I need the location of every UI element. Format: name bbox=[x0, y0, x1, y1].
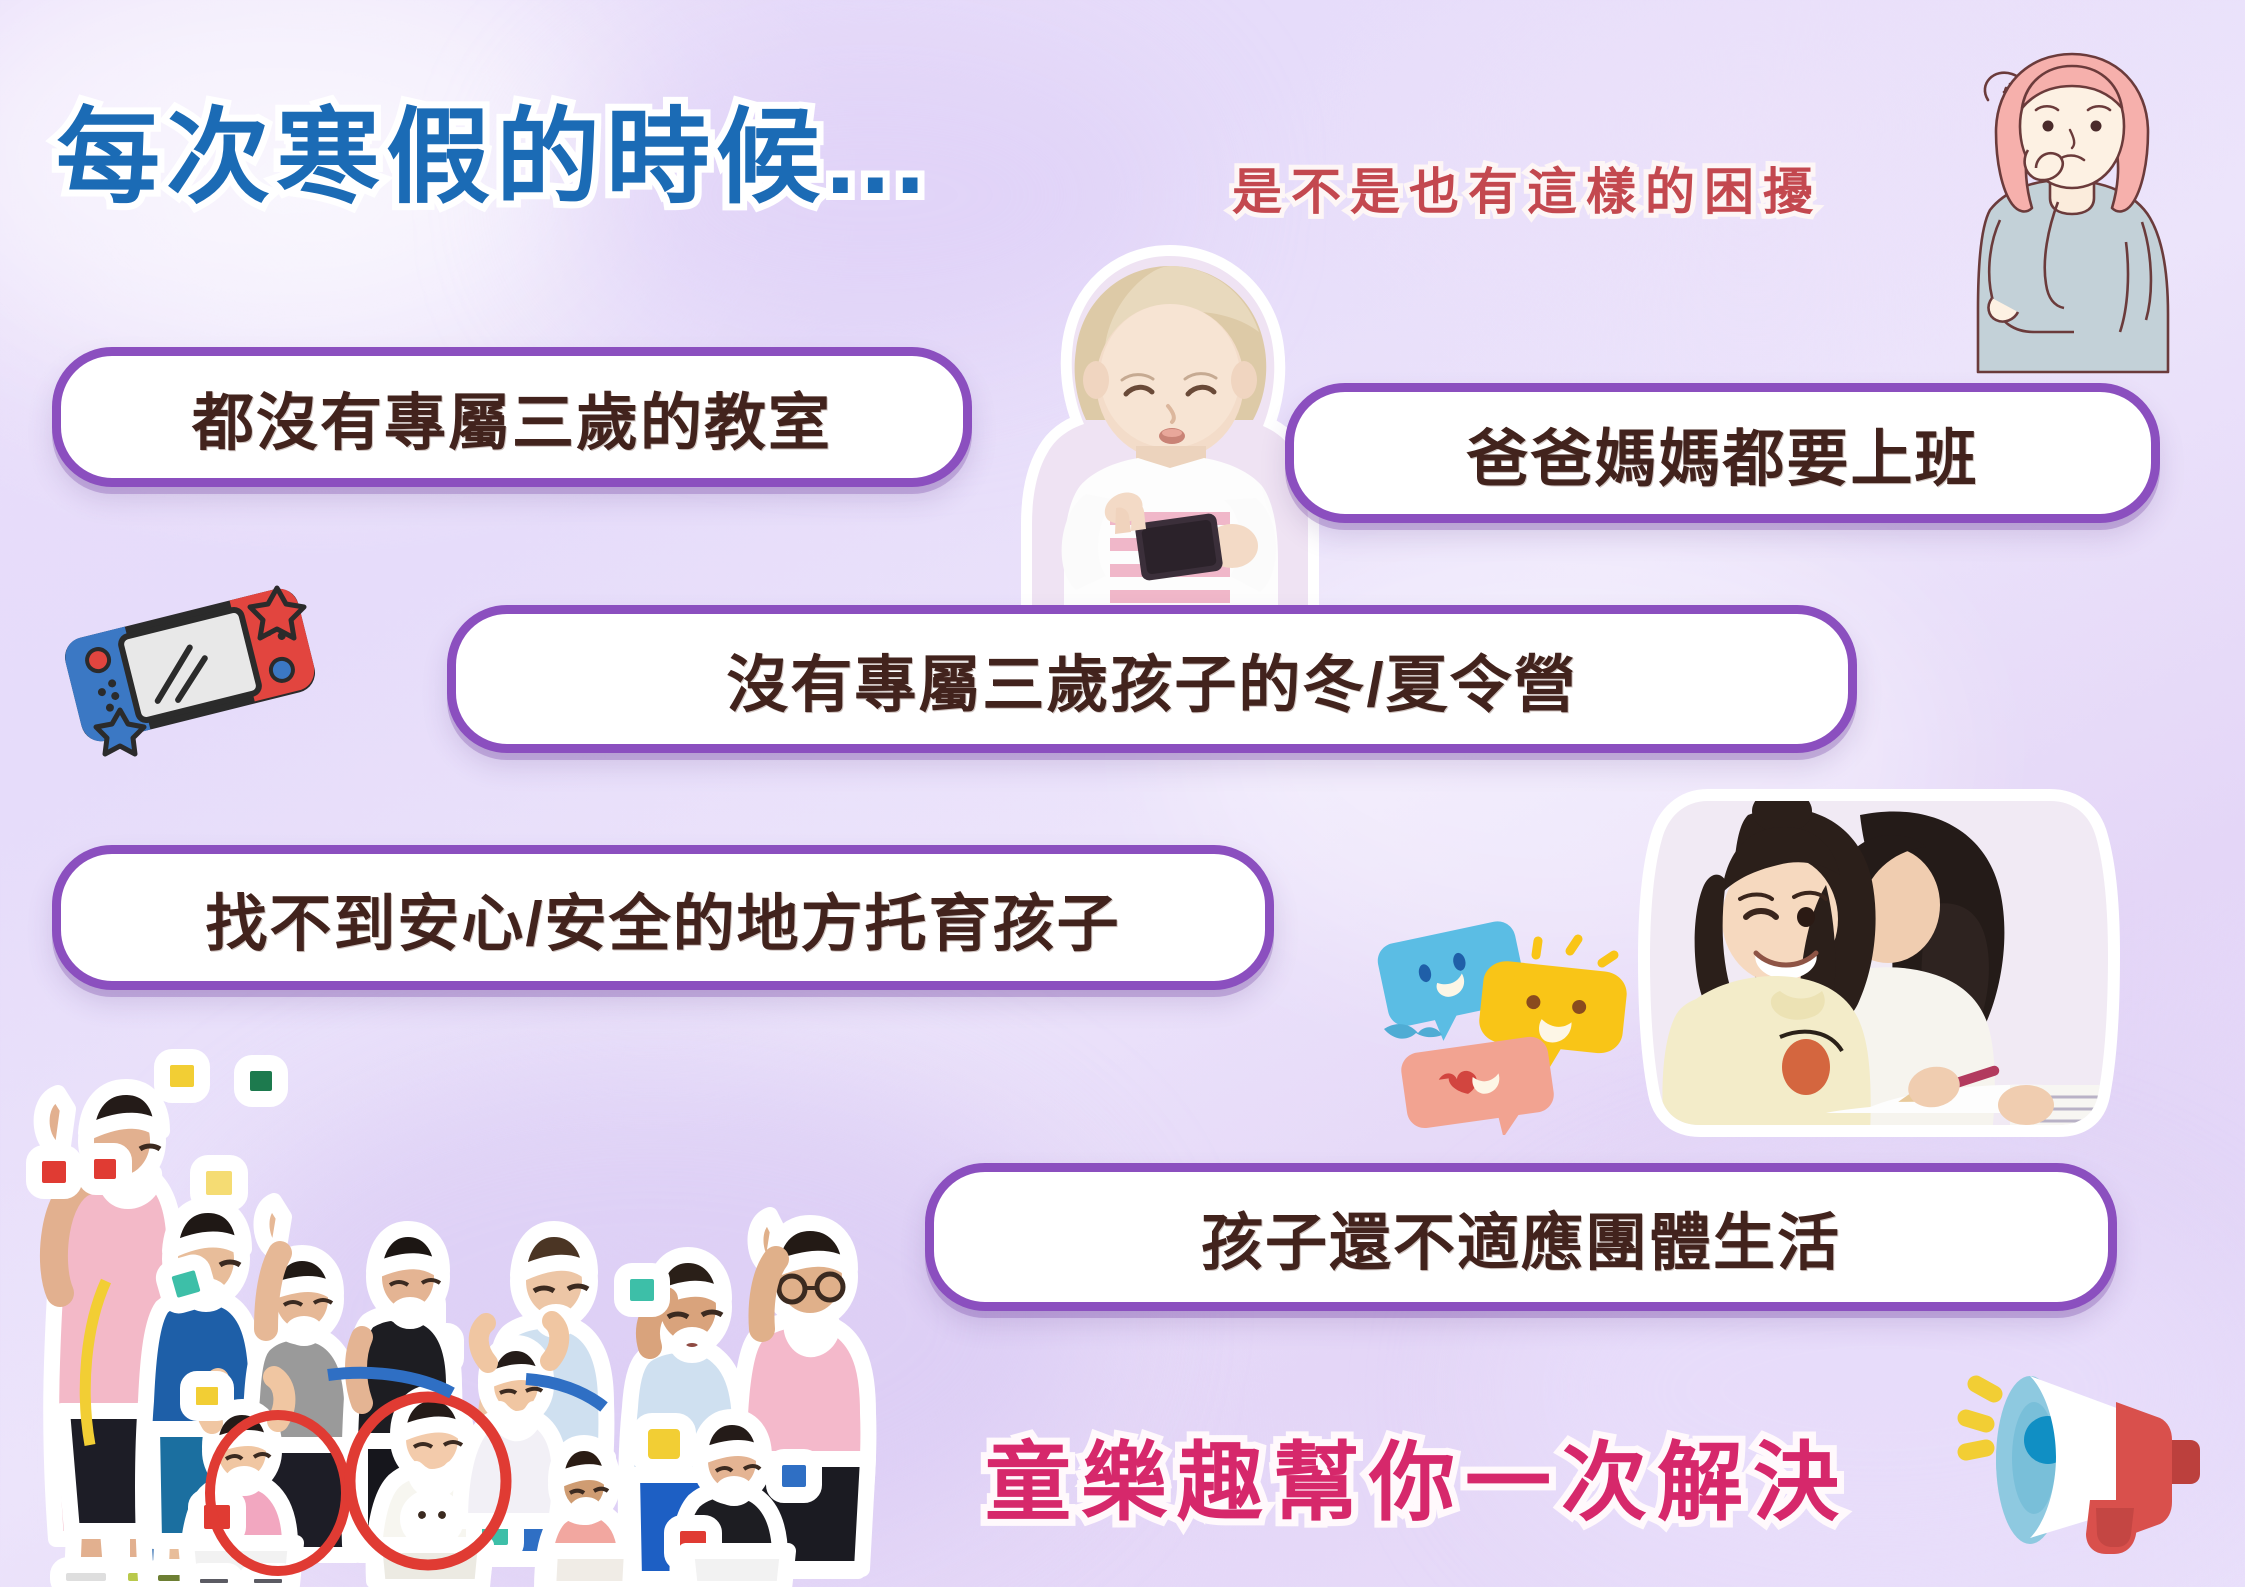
problem-bubble-5: 孩子還不適應團體生活 bbox=[925, 1163, 2117, 1311]
problem-bubble-5-text: 孩子還不適應團體生活 bbox=[1201, 1192, 1841, 1282]
smiling-chat-bubbles-illustration bbox=[1370, 905, 1630, 1140]
problem-bubble-3: 沒有專屬三歲孩子的冬/夏令營 bbox=[447, 605, 1857, 753]
megaphone-illustration bbox=[1920, 1340, 2220, 1585]
worried-woman-illustration bbox=[1930, 30, 2230, 395]
two-girls-studying-photo bbox=[1630, 785, 2175, 1135]
children-group-activity-photo bbox=[10, 1045, 910, 1587]
page-headline: 每次寒假的時候... bbox=[56, 72, 931, 223]
problem-bubble-3-text: 沒有專屬三歲孩子的冬/夏令營 bbox=[726, 634, 1577, 724]
problem-bubble-2-text: 爸爸媽媽都要上班 bbox=[1466, 408, 1978, 498]
handheld-game-console-illustration bbox=[40, 560, 340, 765]
problem-bubble-2: 爸爸媽媽都要上班 bbox=[1285, 383, 2160, 523]
toddler-with-phone-photo bbox=[1020, 250, 1320, 620]
problem-bubble-4: 找不到安心/安全的地方托育孩子 bbox=[52, 845, 1274, 990]
problem-bubble-1-text: 都沒有專屬三歲的教室 bbox=[192, 372, 832, 462]
problem-bubble-1: 都沒有專屬三歲的教室 bbox=[52, 347, 972, 487]
call-to-action-text: 童樂趣幫你一次解決 bbox=[985, 1412, 1849, 1537]
problem-bubble-4-text: 找不到安心/安全的地方托育孩子 bbox=[205, 873, 1120, 963]
page-subtitle: 是不是也有這樣的困擾 bbox=[1232, 152, 1822, 224]
